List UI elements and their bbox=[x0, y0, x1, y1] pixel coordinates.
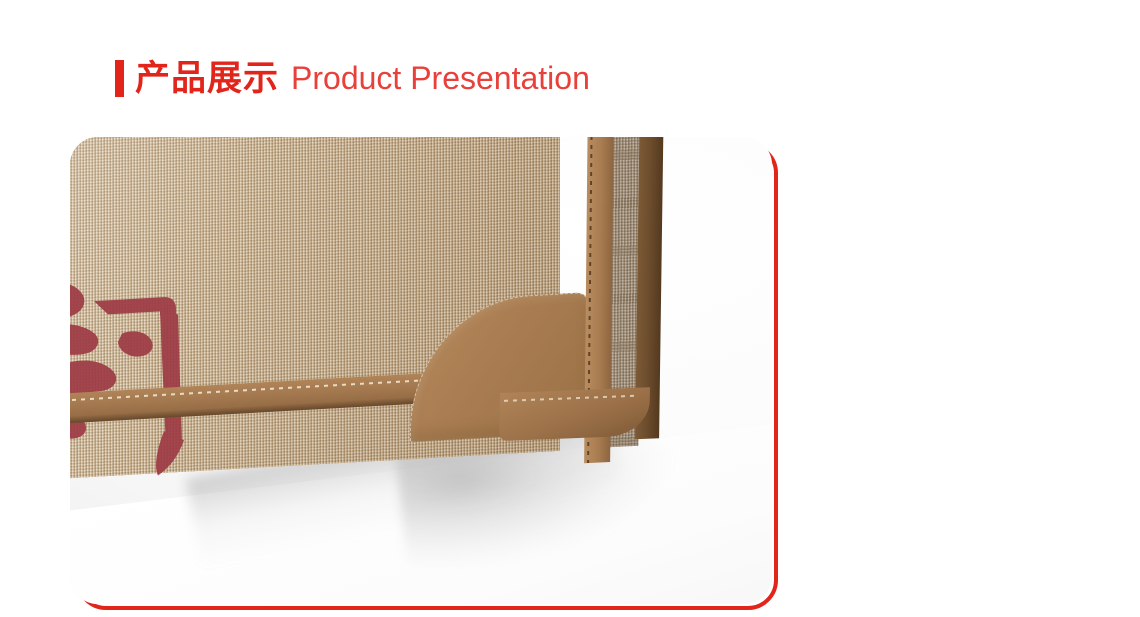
section-heading: 产品展示 Product Presentation bbox=[115, 55, 590, 101]
photo-scene bbox=[70, 137, 772, 604]
heading-accent-bar bbox=[115, 60, 124, 97]
page-title-cn: 产品展示 bbox=[135, 61, 279, 96]
page-title-en: Product Presentation bbox=[291, 62, 590, 94]
canvas-bag bbox=[70, 137, 620, 497]
calligraphy-stamp-icon bbox=[70, 267, 235, 492]
product-photo[interactable] bbox=[70, 137, 772, 604]
product-image-card[interactable] bbox=[70, 137, 772, 604]
